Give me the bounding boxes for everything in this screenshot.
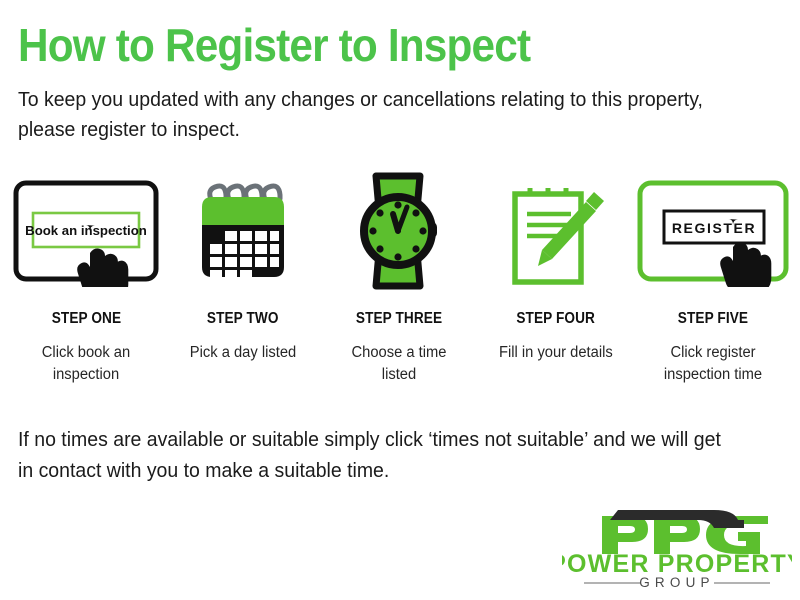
step-five-icon-wrap: REGISTER [634, 172, 792, 290]
step-two: STEP TWO Pick a day listed [165, 172, 322, 392]
step-three-icon-wrap [343, 172, 455, 290]
step-two-icon-wrap [190, 172, 296, 290]
poster-root: How to Register to Inspect To keep you u… [0, 0, 800, 600]
book-inspection-button-label[interactable]: Book an inspection [25, 223, 147, 238]
step-five-caption: Click register inspection time [650, 342, 775, 386]
step-one: Book an inspection STEP ONE Click book a… [8, 172, 165, 392]
wristwatch-icon [343, 170, 455, 292]
notepad-pencil-icon [500, 172, 612, 290]
ppg-logo-svg: POWER PROPERTY GROUP [562, 492, 792, 588]
step-four-caption: Fill in your details [499, 342, 613, 364]
step-one-title: STEP ONE [52, 310, 121, 328]
register-screen-icon: REGISTER [634, 175, 792, 287]
tablet-book-inspection-icon: Book an inspection [10, 175, 162, 287]
step-four: STEP FOUR Fill in your details [478, 172, 635, 392]
page-title: How to Register to Inspect [18, 18, 717, 72]
step-two-caption: Pick a day listed [190, 342, 296, 364]
step-three-caption: Choose a time listed [337, 342, 462, 386]
step-one-icon-wrap: Book an inspection [10, 172, 162, 290]
step-two-title: STEP TWO [207, 310, 279, 328]
step-four-icon-wrap [500, 172, 612, 290]
footnote-paragraph: If no times are available or suitable si… [18, 424, 740, 486]
step-five-title: STEP FIVE [678, 310, 748, 328]
logo-name-line1: POWER PROPERTY [562, 550, 792, 578]
logo-name-line2: GROUP [639, 575, 715, 588]
step-four-title: STEP FOUR [516, 310, 595, 328]
calendar-icon [190, 175, 296, 287]
step-three-title: STEP THREE [356, 310, 442, 328]
step-one-caption: Click book an inspection [24, 342, 149, 386]
company-logo: POWER PROPERTY GROUP [562, 492, 792, 588]
intro-paragraph: To keep you updated with any changes or … [18, 85, 732, 145]
register-button-label[interactable]: REGISTER [672, 220, 756, 236]
steps-row: Book an inspection STEP ONE Click book a… [8, 172, 792, 392]
step-five: REGISTER STEP FIVE Click register inspec… [634, 172, 792, 392]
step-three: STEP THREE Choose a time listed [321, 172, 478, 392]
